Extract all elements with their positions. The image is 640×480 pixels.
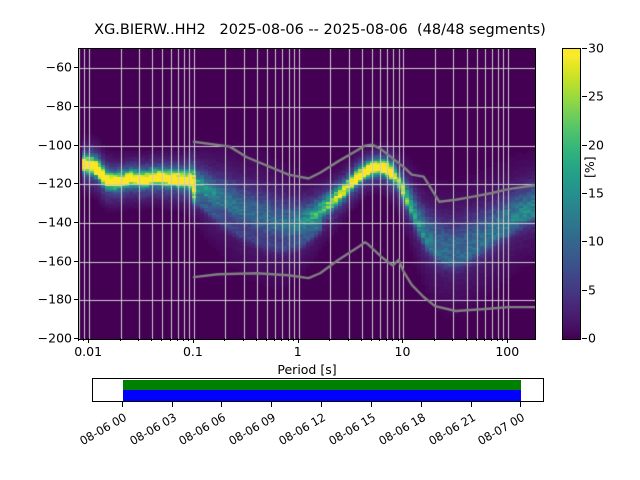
x-minor-tick [491,338,492,341]
colorbar-gradient [563,49,580,339]
x-minor-tick [288,338,289,341]
timeline-tick-mark [221,402,222,407]
x-tick-label: 1 [294,344,302,359]
x-minor-tick [83,338,84,341]
x-minor-tick [224,338,225,341]
colorbar-tick-label: 25 [588,89,604,104]
x-minor-tick [281,338,282,341]
timeline-tick-label: 08-06 06 [171,410,228,451]
timeline-tick-label: 08-06 12 [271,410,328,451]
x-tick-label: 100 [495,344,519,359]
x-minor-tick [379,338,380,341]
colorbar-tick-mark [582,96,587,97]
x-axis-label: Period [s] [78,362,536,377]
y-tick-mark [74,183,78,184]
timeline-tick-label: 08-07 00 [470,410,527,451]
page-title: XG.BIERW..HH2 2025-08-06 -- 2025-08-06 (… [0,22,640,38]
x-minor-tick [188,338,189,341]
y-tick-label: −160 [38,253,72,268]
x-minor-tick [274,338,275,341]
x-minor-tick [177,338,178,341]
colorbar-tick-label: 5 [588,282,596,297]
y-tick-label: −140 [38,215,72,230]
colorbar-tick-mark [582,193,587,194]
x-minor-tick [256,338,257,341]
colorbar-tick-label: 30 [588,41,604,56]
x-minor-tick [151,338,152,341]
timeline-data-bar [123,380,522,390]
colorbar-tick-mark [582,338,587,339]
y-tick-mark [74,67,78,68]
x-major-tick [402,338,403,343]
timeline-tick-mark [271,402,272,407]
y-tick-label: −180 [38,292,72,307]
colorbar-tick-label: 10 [588,234,604,249]
x-minor-tick [361,338,362,341]
colorbar-tick-mark [582,145,587,146]
x-major-tick [298,338,299,343]
x-tick-label: 10 [395,344,411,359]
x-minor-tick [266,338,267,341]
colorbar-tick-mark [582,48,587,49]
x-tick-label: 0.01 [74,344,102,359]
x-minor-tick [170,338,171,341]
x-minor-tick [398,338,399,341]
x-minor-tick [452,338,453,341]
x-major-tick [193,338,194,343]
x-minor-tick [434,338,435,341]
y-tick-label: −80 [46,99,72,114]
colorbar-tick-label: 0 [588,331,596,346]
timeline-psd-bar [123,390,522,401]
x-major-tick [507,338,508,343]
timeline-tick-mark [321,402,322,407]
x-minor-tick [392,338,393,341]
x-minor-tick [243,338,244,341]
timeline-axes[interactable] [92,378,544,402]
x-minor-tick [502,338,503,341]
timeline-tick-mark [520,402,521,407]
timeline-tick-label: 08-06 15 [321,410,378,451]
x-minor-tick [348,338,349,341]
timeline-tick-label: 08-06 00 [72,410,129,451]
colorbar-tick-label: 20 [588,137,604,152]
x-minor-tick [138,338,139,341]
timeline-tick-label: 08-06 09 [221,410,278,451]
timeline-tick-label: 08-06 18 [371,410,428,451]
x-minor-tick [161,338,162,341]
x-major-tick [88,338,89,343]
x-minor-tick [371,338,372,341]
timeline-tick-label: 08-06 03 [121,410,178,451]
y-tick-label: −100 [38,137,72,152]
x-minor-tick [497,338,498,341]
y-tick-mark [74,106,78,107]
timeline-tick-mark [172,402,173,407]
y-tick-mark [74,299,78,300]
x-minor-tick [120,338,121,341]
colorbar[interactable] [562,48,581,340]
y-tick-label: −60 [46,60,72,75]
timeline-tick-label: 08-06 21 [421,410,478,451]
x-minor-tick [484,338,485,341]
timeline-tick-mark [421,402,422,407]
colorbar-tick-label: 15 [588,186,604,201]
y-tick-label: −200 [38,331,72,346]
timeline-tick-mark [371,402,372,407]
ppsd-axes[interactable] [78,48,536,340]
x-tick-label: 0.1 [183,344,203,359]
y-tick-label: −120 [38,176,72,191]
colorbar-tick-mark [582,241,587,242]
x-minor-tick [329,338,330,341]
x-minor-tick [386,338,387,341]
x-minor-tick [466,338,467,341]
x-minor-tick [183,338,184,341]
ppsd-figure: XG.BIERW..HH2 2025-08-06 -- 2025-08-06 (… [0,0,640,480]
x-minor-tick [476,338,477,341]
timeline-tick-mark [122,402,123,407]
x-minor-tick [78,338,79,341]
y-tick-mark [74,145,78,146]
ppsd-heatmap-canvas[interactable] [79,49,535,339]
x-minor-tick [293,338,294,341]
y-tick-mark [74,261,78,262]
timeline-tick-mark [471,402,472,407]
colorbar-tick-mark [582,290,587,291]
y-tick-mark [74,222,78,223]
colorbar-label: [%] [582,156,597,178]
